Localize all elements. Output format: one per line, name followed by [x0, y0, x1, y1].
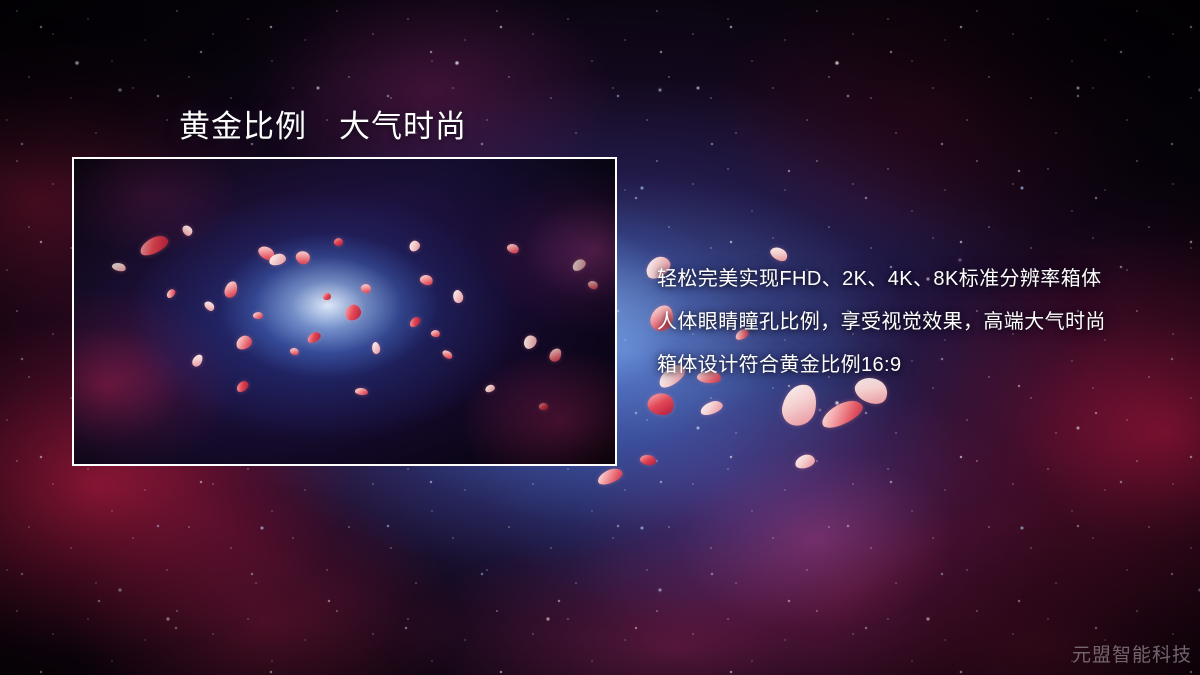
presentation-slide: 黄金比例 大气时尚 轻松完美实现FHD、2K、4K、8K标准分辨率箱体 人体眼睛…	[0, 0, 1200, 675]
body-line-2: 人体眼睛瞳孔比例，享受视觉效果，高端大气时尚	[657, 301, 1157, 344]
body-line-1: 轻松完美实现FHD、2K、4K、8K标准分辨率箱体	[657, 258, 1157, 301]
petal	[779, 381, 820, 429]
petal	[639, 453, 657, 467]
petal	[645, 389, 677, 419]
page-title: 黄金比例 大气时尚	[179, 101, 467, 146]
petal	[818, 396, 866, 432]
petal	[794, 453, 816, 470]
petal	[596, 466, 625, 487]
watermark: 元盟智能科技	[1072, 640, 1192, 667]
body-text-block: 轻松完美实现FHD、2K、4K、8K标准分辨率箱体 人体眼睛瞳孔比例，享受视觉效…	[657, 258, 1157, 387]
body-line-3: 箱体设计符合黄金比例16:9	[657, 344, 1157, 387]
petal	[699, 399, 725, 418]
